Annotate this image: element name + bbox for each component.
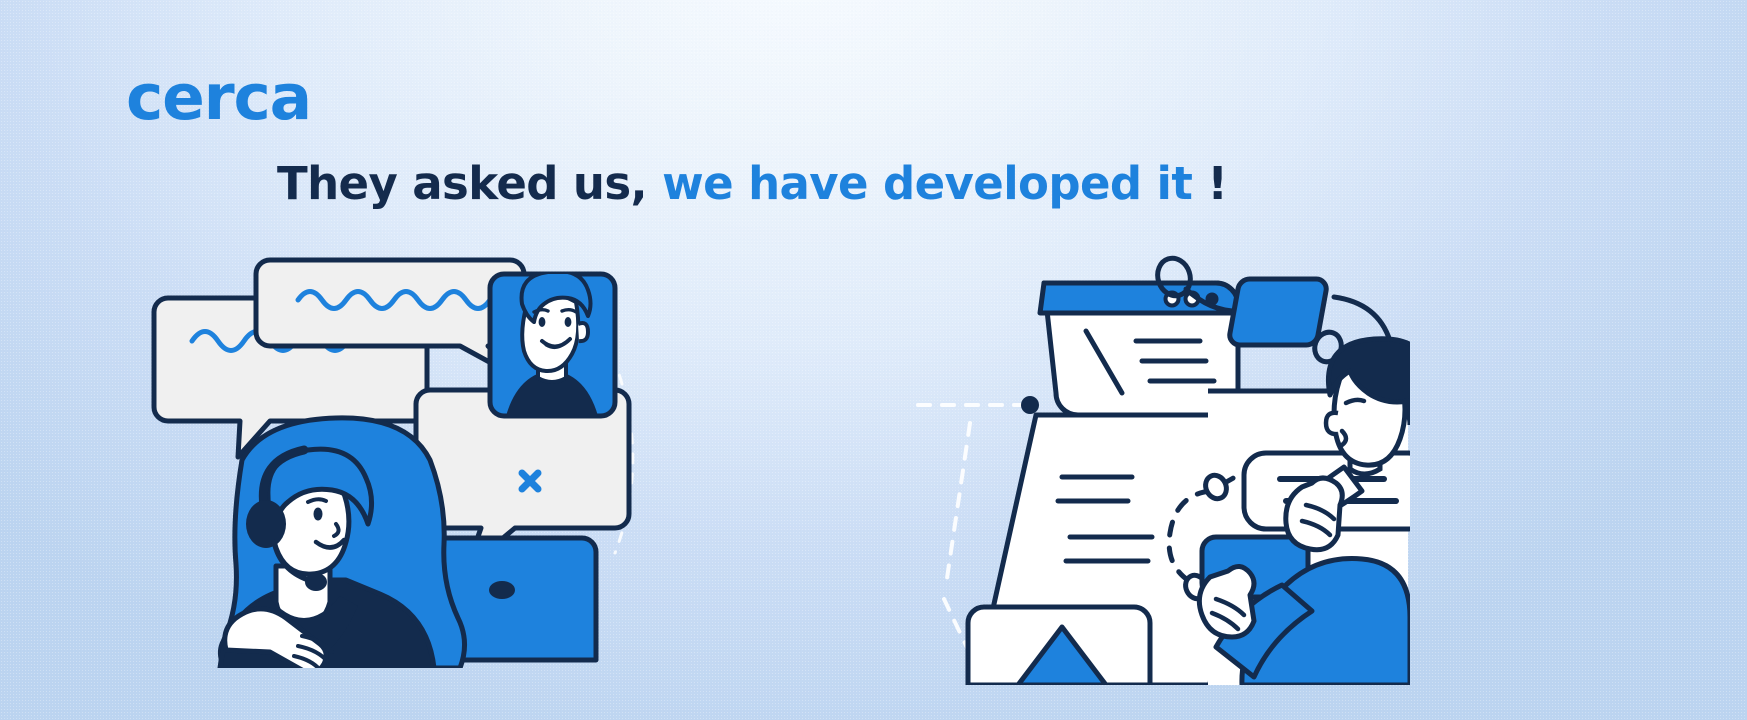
headset-mic (305, 573, 327, 591)
connector-node (1021, 396, 1039, 414)
laptop-logo (489, 581, 515, 599)
agent-eye (314, 508, 323, 521)
illustration-left-support-scene (150, 248, 650, 668)
brand-logo[interactable]: cerca (126, 66, 311, 129)
illustration-right-ui-builder-scene (910, 255, 1410, 685)
media-card (968, 607, 1150, 685)
banner-root: cerca They asked us, we have developed i… (0, 0, 1747, 720)
support-agent (220, 418, 465, 668)
headline-part-dark: They asked us, (277, 157, 647, 210)
headline: They asked us, we have developed it ! (277, 160, 1227, 207)
headline-exclamation: ! (1207, 157, 1227, 210)
video-call-card (490, 271, 615, 416)
headline-part-blue: we have developed it (662, 157, 1192, 210)
blue-tile-upper (1230, 279, 1326, 345)
